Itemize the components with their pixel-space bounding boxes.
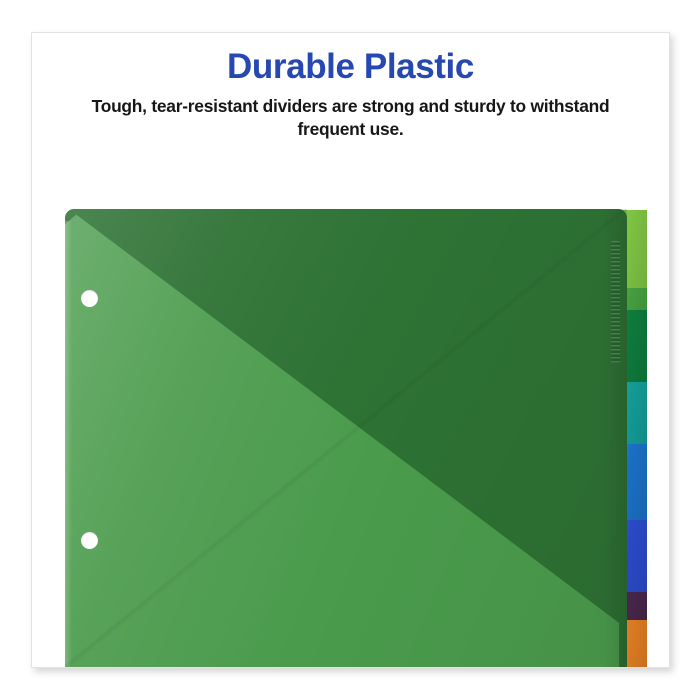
pocket-edge-highlight — [65, 221, 72, 668]
headline-block: Durable Plastic Tough, tear-resistant di… — [32, 49, 669, 141]
binding-hole-bottom — [81, 532, 98, 549]
green-divider-sheet — [65, 209, 627, 668]
screenshot-root: Durable Plastic Tough, tear-resistant di… — [0, 0, 700, 700]
page-subtitle: Tough, tear-resistant dividers are stron… — [71, 95, 631, 141]
reinforced-binding-rib-strip — [611, 241, 620, 363]
binding-hole-top — [81, 290, 98, 307]
page-title: Durable Plastic — [32, 49, 669, 86]
product-image — [32, 176, 670, 668]
product-card: Durable Plastic Tough, tear-resistant di… — [31, 32, 670, 668]
